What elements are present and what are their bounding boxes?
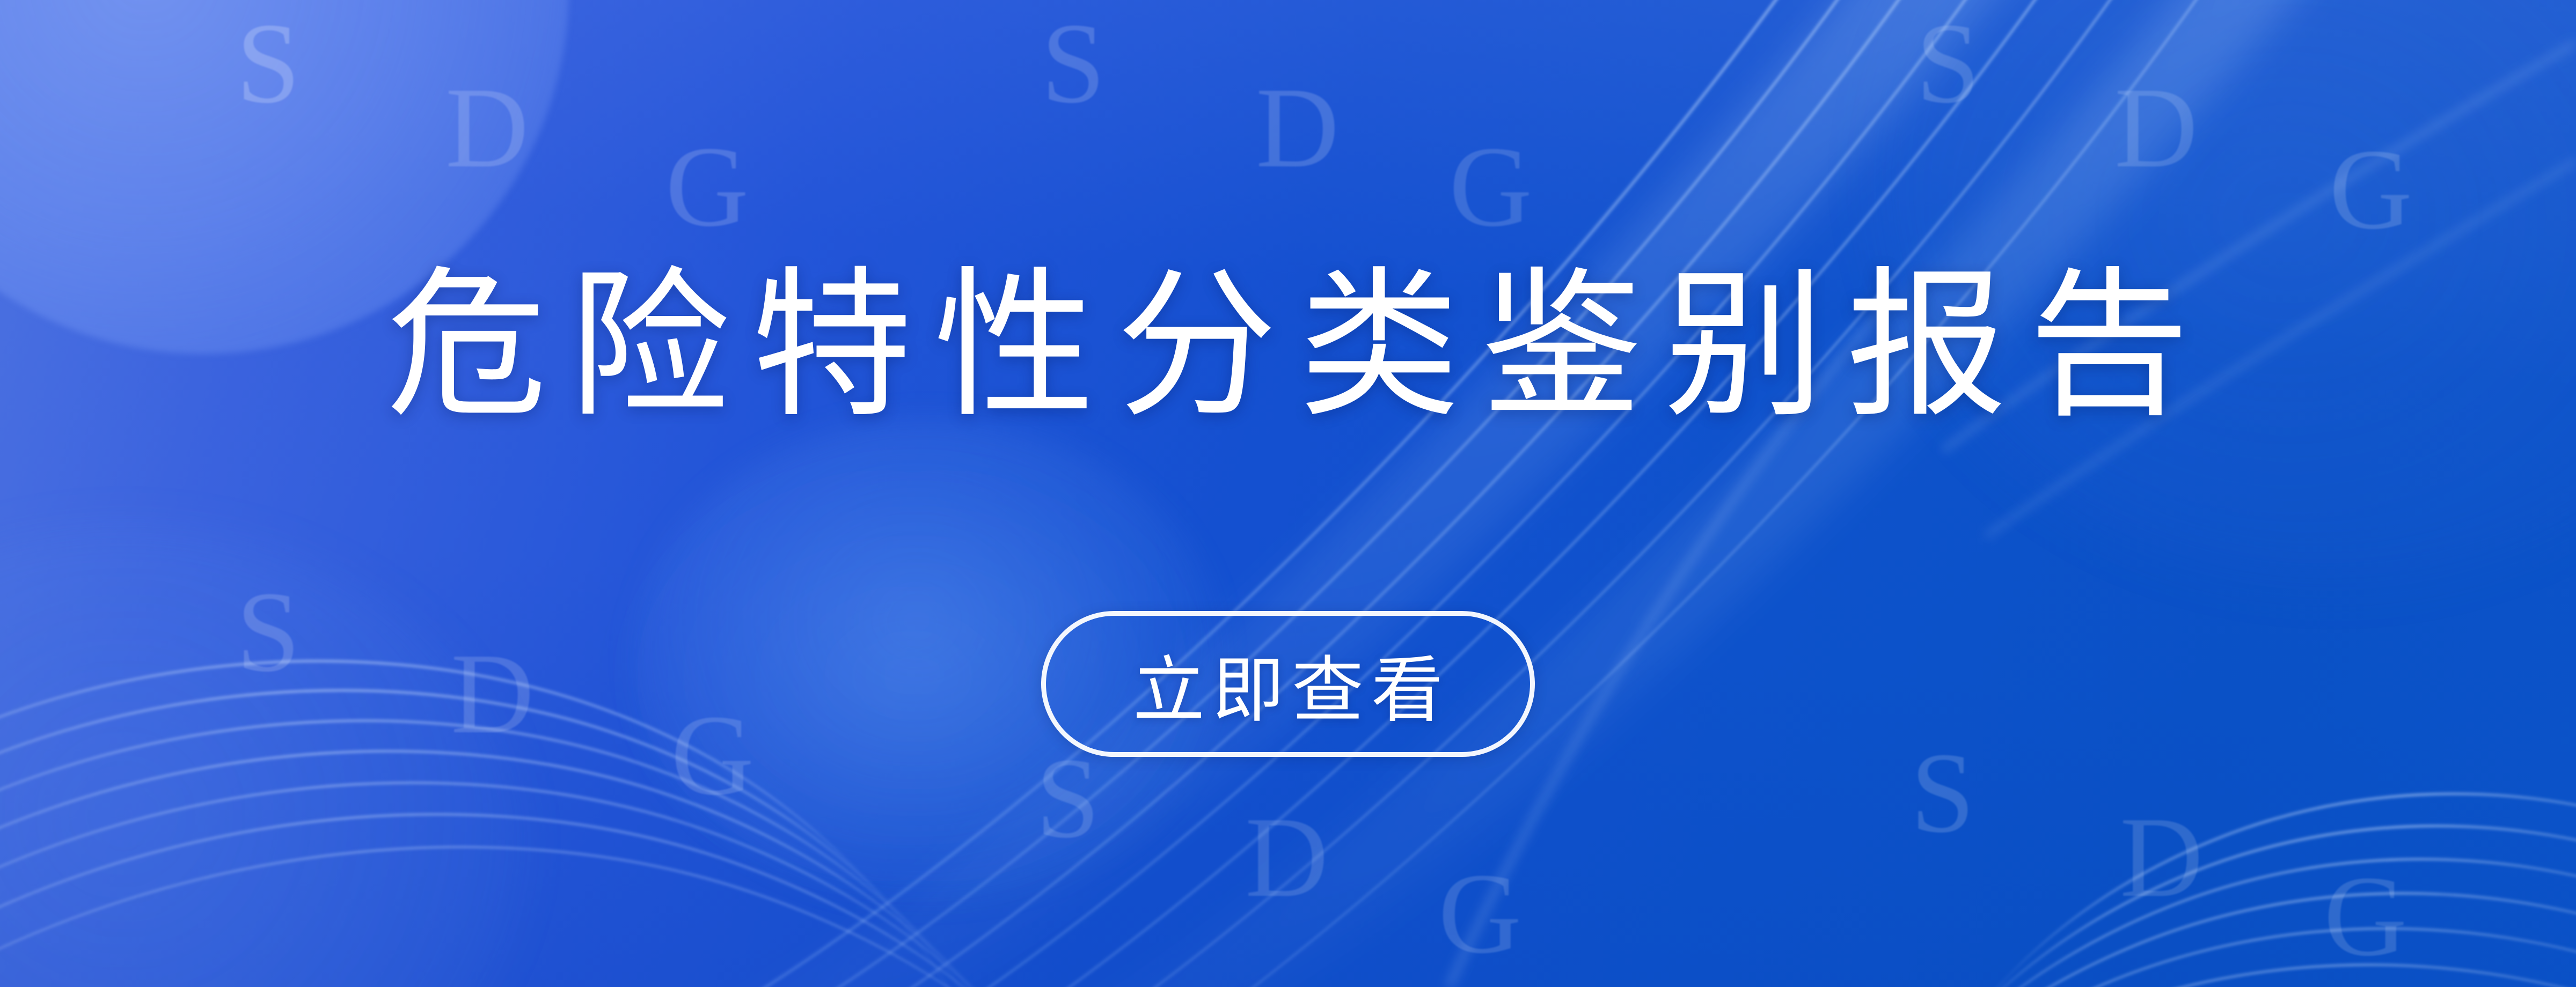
view-now-button[interactable]: 立即查看 [1041, 611, 1535, 757]
promo-banner: SDGSDGSDGSDGSDGSDG [0, 0, 2576, 987]
banner-content: 危险特性分类鉴别报告 立即查看 [0, 0, 2576, 987]
page-title: 危险特性分类鉴别报告 [365, 252, 2211, 439]
cta-container: 立即查看 [0, 611, 2576, 757]
